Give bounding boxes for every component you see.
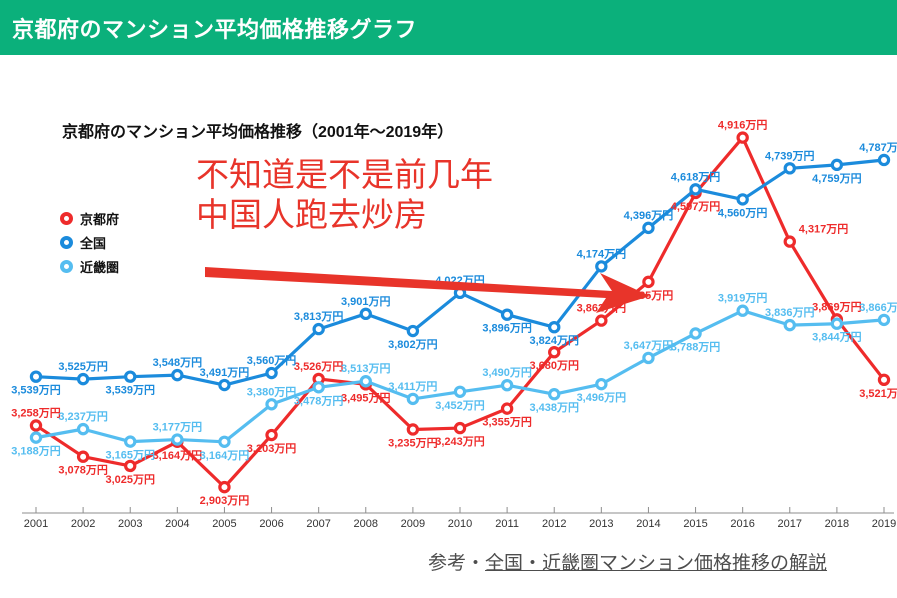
line-chart-plot: 2001200220032004200520062007200820092010…	[0, 55, 897, 540]
data-point[interactable]	[785, 321, 794, 330]
data-point[interactable]	[597, 380, 606, 389]
data-point-label: 4,739万円	[765, 149, 815, 162]
data-point[interactable]	[126, 372, 135, 381]
x-axis-tick-label: 2001	[24, 518, 48, 530]
data-point[interactable]	[597, 262, 606, 271]
x-axis-tick-label: 2004	[165, 518, 189, 530]
data-point[interactable]	[173, 435, 182, 444]
data-point-label: 3,866万円	[859, 301, 897, 314]
data-point[interactable]	[408, 326, 417, 335]
data-point-label: 3,495万円	[341, 391, 391, 404]
data-point-label: 3,177万円	[153, 421, 203, 434]
data-point-label: 3,438万円	[529, 401, 579, 414]
x-axis-tick-label: 2015	[683, 518, 707, 530]
data-point[interactable]	[126, 461, 135, 470]
x-axis-tick-label: 2017	[778, 518, 802, 530]
data-point[interactable]	[644, 277, 653, 286]
page-root: 京都府のマンション平均価格推移グラフ 京都府のマンション平均価格推移（2001年…	[0, 0, 897, 598]
x-axis-tick-label: 2018	[825, 518, 849, 530]
data-point[interactable]	[550, 323, 559, 332]
data-point-label: 3,539万円	[105, 384, 155, 397]
x-axis-tick-label: 2011	[495, 518, 519, 530]
data-point-label: 3,203万円	[247, 442, 297, 455]
footer-link[interactable]: 全国・近畿圏マンション価格推移の解説	[485, 553, 827, 574]
data-point[interactable]	[503, 310, 512, 319]
data-point[interactable]	[597, 316, 606, 325]
x-axis-tick-label: 2013	[589, 518, 613, 530]
x-axis-tick-label: 2006	[259, 518, 283, 530]
data-point[interactable]	[79, 375, 88, 384]
data-point[interactable]	[785, 164, 794, 173]
data-point[interactable]	[126, 437, 135, 446]
chart-area: 京都府のマンション平均価格推移（2001年〜2019年） 不知道是不是前几年 中…	[0, 55, 897, 540]
data-point-label: 3,901万円	[341, 295, 391, 308]
data-point[interactable]	[267, 430, 276, 439]
chart-data-labels: 3,258万円3,078万円3,025万円3,164万円2,903万円3,203…	[11, 119, 897, 508]
data-point-label: 4,174万円	[577, 247, 627, 260]
data-point[interactable]	[267, 400, 276, 409]
data-point[interactable]	[832, 319, 841, 328]
x-axis-tick-label: 2009	[401, 518, 425, 530]
data-point[interactable]	[455, 423, 464, 432]
data-point[interactable]	[550, 348, 559, 357]
data-point-label: 3,235万円	[388, 436, 438, 449]
footer-prefix: 参考・	[428, 553, 485, 574]
data-point-label: 3,355万円	[482, 416, 532, 429]
data-point[interactable]	[220, 483, 229, 492]
data-point-label: 3,647万円	[624, 339, 674, 352]
data-point-label: 3,491万円	[200, 366, 250, 379]
data-point[interactable]	[738, 306, 747, 315]
data-point[interactable]	[503, 404, 512, 413]
data-point[interactable]	[31, 372, 40, 381]
series-line-全国	[36, 160, 884, 385]
x-axis-tick-label: 2019	[872, 518, 896, 530]
data-point-label: 3,788万円	[671, 340, 721, 353]
x-axis-tick-label: 2005	[212, 518, 236, 530]
data-point[interactable]	[220, 380, 229, 389]
data-point-label: 3,836万円	[765, 306, 815, 319]
data-point[interactable]	[79, 425, 88, 434]
data-point-label: 4,560万円	[718, 206, 768, 219]
data-point-label: 3,525万円	[58, 360, 108, 373]
data-point-label: 3,548万円	[153, 356, 203, 369]
data-point-label: 4,618万円	[671, 170, 721, 183]
x-axis-tick-label: 2007	[306, 518, 330, 530]
data-point[interactable]	[455, 387, 464, 396]
data-point-label: 3,380万円	[247, 385, 297, 398]
data-point[interactable]	[408, 394, 417, 403]
chart-x-axis: 2001200220032004200520062007200820092010…	[22, 507, 896, 530]
data-point-label: 3,844万円	[812, 331, 862, 344]
x-axis-tick-label: 2010	[448, 518, 472, 530]
data-point-label: 3,025万円	[105, 473, 155, 486]
data-point[interactable]	[314, 325, 323, 334]
data-point-label: 3,164万円	[200, 449, 250, 462]
data-point-label: 4,317万円	[799, 223, 849, 236]
data-point-label: 3,919万円	[718, 292, 768, 305]
data-point[interactable]	[267, 368, 276, 377]
data-point-label: 4,916万円	[718, 119, 768, 132]
data-point[interactable]	[879, 315, 888, 324]
data-point-label: 3,680万円	[529, 359, 579, 372]
data-point-label: 3,243万円	[435, 435, 485, 448]
data-point-label: 3,411万円	[388, 380, 437, 393]
data-point[interactable]	[832, 160, 841, 169]
data-point[interactable]	[173, 371, 182, 380]
data-point-label: 3,188万円	[11, 445, 61, 458]
data-point-label: 3,824万円	[529, 334, 579, 347]
page-title: 京都府のマンション平均価格推移グラフ	[12, 12, 417, 44]
x-axis-tick-label: 2016	[730, 518, 754, 530]
data-point-label: 3,896万円	[482, 322, 532, 335]
header-banner: 京都府のマンション平均価格推移グラフ	[0, 0, 897, 55]
data-point-label: 3,813万円	[294, 310, 344, 323]
data-point-label: 3,478万円	[294, 394, 344, 407]
data-point-label: 2,903万円	[200, 494, 250, 507]
data-point[interactable]	[31, 433, 40, 442]
data-point-label: 3,521万円	[859, 387, 897, 400]
data-point[interactable]	[361, 377, 370, 386]
data-point-label: 3,258万円	[11, 406, 61, 419]
data-point-label: 4,787万円	[859, 141, 897, 154]
data-point[interactable]	[361, 309, 370, 318]
data-point[interactable]	[691, 185, 700, 194]
data-point-label: 3,490万円	[482, 366, 532, 379]
data-point-label: 3,513万円	[341, 362, 391, 375]
data-point[interactable]	[879, 375, 888, 384]
data-point[interactable]	[220, 437, 229, 446]
data-point[interactable]	[738, 133, 747, 142]
data-point-label: 3,237万円	[58, 410, 108, 423]
data-point-label: 3,560万円	[247, 354, 297, 367]
data-point[interactable]	[785, 237, 794, 246]
data-point-label: 3,164万円	[153, 449, 203, 462]
x-axis-tick-label: 2012	[542, 518, 566, 530]
data-point[interactable]	[879, 155, 888, 164]
data-point[interactable]	[691, 329, 700, 338]
data-point[interactable]	[644, 223, 653, 232]
x-axis-tick-label: 2008	[354, 518, 378, 530]
data-point[interactable]	[79, 452, 88, 461]
data-point[interactable]	[550, 390, 559, 399]
data-point-label: 4,396万円	[624, 209, 674, 222]
data-point-label: 3,526万円	[294, 360, 344, 373]
data-point[interactable]	[503, 381, 512, 390]
data-point-label: 3,078万円	[58, 464, 108, 477]
data-point[interactable]	[408, 425, 417, 434]
footer-reference: 参考・全国・近畿圏マンション価格推移の解説	[428, 548, 827, 575]
data-point-label: 4,759万円	[812, 172, 862, 185]
data-point-label: 3,452万円	[435, 399, 485, 412]
data-point-label: 3,869万円	[812, 300, 862, 313]
data-point-label: 3,539万円	[11, 384, 61, 397]
data-point-label: 3,496万円	[577, 391, 627, 404]
x-axis-tick-label: 2002	[71, 518, 95, 530]
data-point[interactable]	[644, 353, 653, 362]
data-point-label: 3,165万円	[105, 449, 155, 462]
data-point-label: 3,802万円	[388, 338, 438, 351]
data-point[interactable]	[31, 421, 40, 430]
x-axis-tick-label: 2014	[636, 518, 660, 530]
data-point-label: 4,597万円	[671, 200, 721, 213]
x-axis-tick-label: 2003	[118, 518, 142, 530]
data-point[interactable]	[314, 383, 323, 392]
data-point[interactable]	[738, 195, 747, 204]
